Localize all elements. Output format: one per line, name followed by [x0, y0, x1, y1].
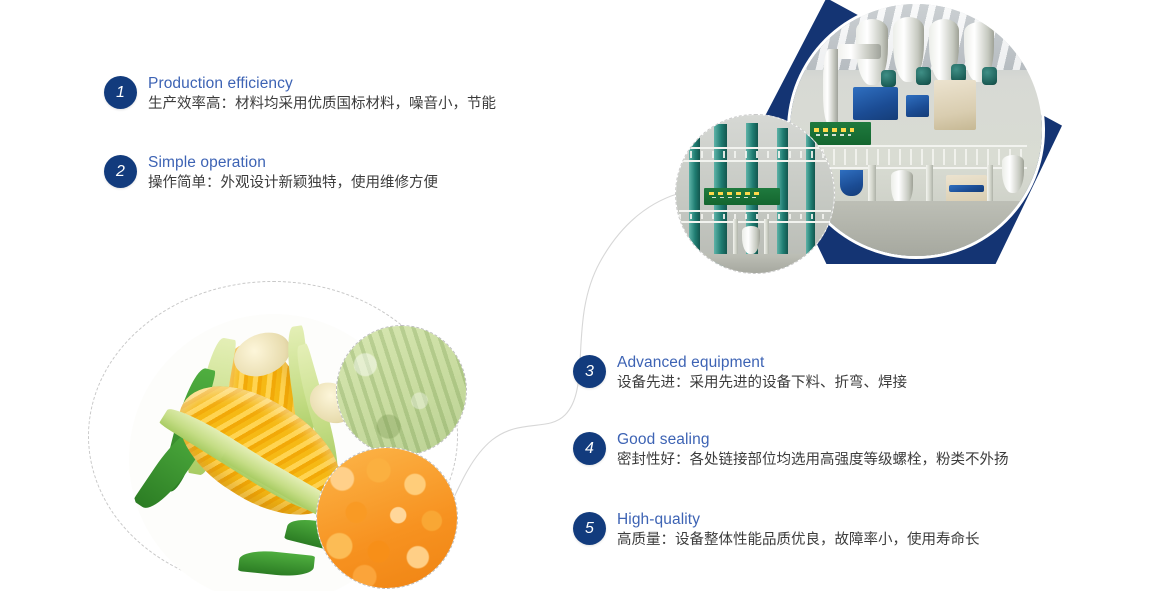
feature-desc-4: 密封性好：各处链接部位均选用高强度等级螺栓，粉类不外扬	[617, 450, 1009, 471]
feature-badge-4: 4	[573, 432, 606, 465]
feature-item-4[interactable]: 4 Good sealing 密封性好：各处链接部位均选用高强度等级螺栓，粉类不…	[573, 430, 1009, 471]
corn-paste-photo	[336, 325, 467, 456]
feature-text-2: Simple operation 操作简单：外观设计新颖独特，使用维修方便	[148, 153, 438, 194]
feature-text-3: Advanced equipment 设备先进：采用先进的设备下料、折弯、焊接	[617, 353, 907, 394]
feature-desc-3: 设备先进：采用先进的设备下料、折弯、焊接	[617, 373, 907, 394]
feature-desc-5: 高质量：设备整体性能品质优良，故障率小，使用寿命长	[617, 530, 980, 551]
corn-kernels-photo	[316, 447, 458, 589]
feature-text-5: High-quality 高质量：设备整体性能品质优良，故障率小，使用寿命长	[617, 510, 980, 551]
feature-badge-5: 5	[573, 512, 606, 545]
feature-title-2: Simple operation	[148, 153, 438, 172]
feature-title-1: Production efficiency	[148, 74, 496, 93]
feature-badge-1: 1	[104, 76, 137, 109]
feature-desc-1: 生产效率高：材料均采用优质国标材料，噪音小，节能	[148, 94, 496, 115]
feature-item-5[interactable]: 5 High-quality 高质量：设备整体性能品质优良，故障率小，使用寿命长	[573, 510, 980, 551]
feature-title-4: Good sealing	[617, 430, 1009, 449]
feature-badge-3: 3	[573, 355, 606, 388]
feature-title-3: Advanced equipment	[617, 353, 907, 372]
feature-desc-2: 操作简单：外观设计新颖独特，使用维修方便	[148, 173, 438, 194]
infographic-canvas: 1 Production efficiency 生产效率高：材料均采用优质国标材…	[0, 0, 1154, 591]
feature-text-1: Production efficiency 生产效率高：材料均采用优质国标材料，…	[148, 74, 496, 115]
feature-text-4: Good sealing 密封性好：各处链接部位均选用高强度等级螺栓，粉类不外扬	[617, 430, 1009, 471]
feature-item-2[interactable]: 2 Simple operation 操作简单：外观设计新颖独特，使用维修方便	[104, 153, 438, 194]
feature-item-1[interactable]: 1 Production efficiency 生产效率高：材料均采用优质国标材…	[104, 74, 496, 115]
feature-item-3[interactable]: 3 Advanced equipment 设备先进：采用先进的设备下料、折弯、焊…	[573, 353, 907, 394]
feature-badge-2: 2	[104, 155, 137, 188]
feature-title-5: High-quality	[617, 510, 980, 529]
machine-photo-secondary	[675, 114, 835, 274]
